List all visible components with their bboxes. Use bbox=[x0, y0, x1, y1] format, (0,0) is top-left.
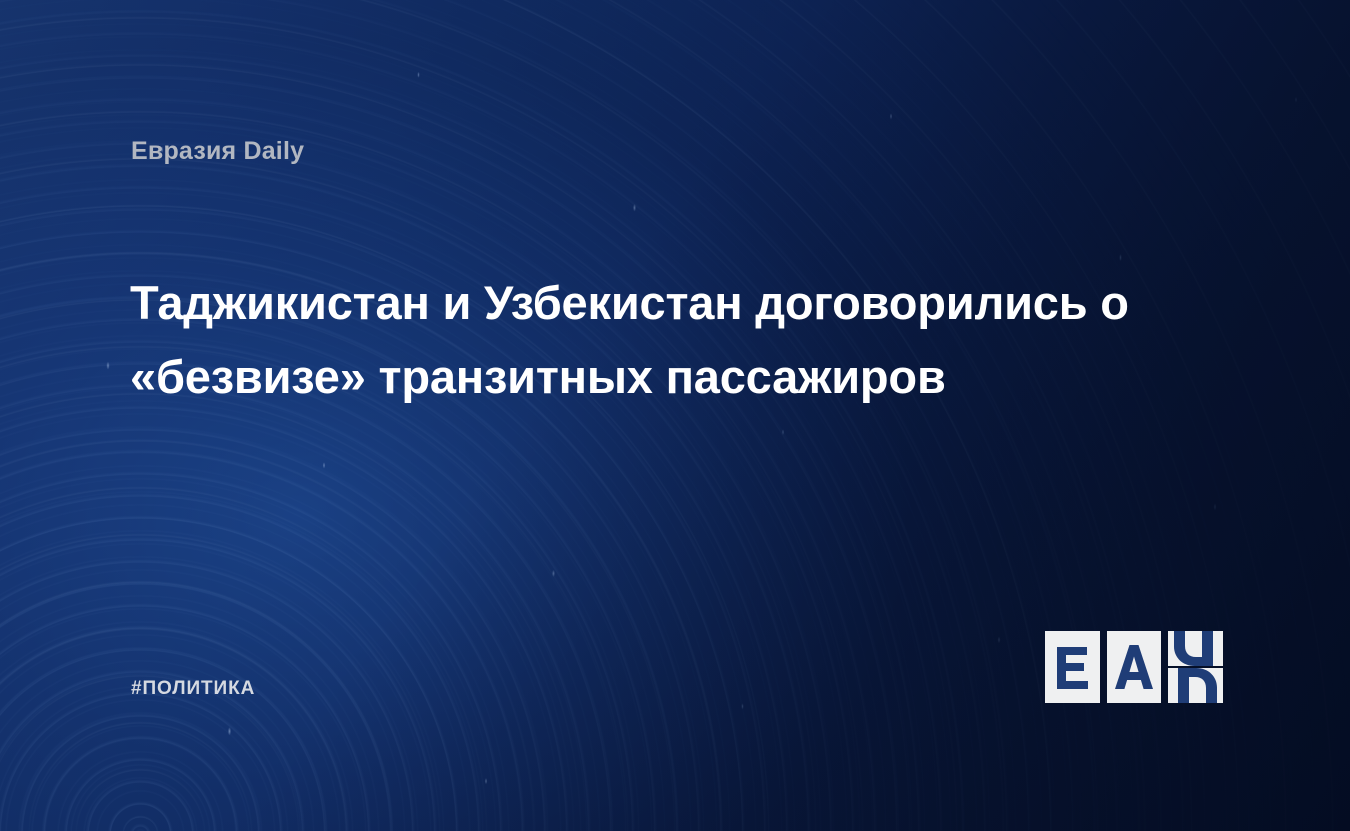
card-content: Евразия Daily Таджикистан и Узбекистан д… bbox=[0, 0, 1350, 831]
logo-letter-e-icon bbox=[1055, 645, 1089, 689]
logo-tile-d-upper bbox=[1168, 631, 1223, 666]
logo-tile-e bbox=[1045, 631, 1100, 703]
category-tag: #ПОЛИТИКА bbox=[131, 678, 255, 700]
logo-tile-d-column bbox=[1168, 631, 1223, 703]
news-share-card: Евразия Daily Таджикистан и Узбекистан д… bbox=[0, 0, 1350, 831]
page-title: Таджикистан и Узбекистан договорились о … bbox=[130, 266, 1210, 414]
site-name: Евразия Daily bbox=[131, 137, 304, 166]
logo-letter-d-lower-icon bbox=[1168, 668, 1223, 703]
logo-letter-a-icon bbox=[1115, 645, 1153, 689]
logo-tile-d-lower bbox=[1168, 668, 1223, 703]
logo-tile-a bbox=[1107, 631, 1162, 703]
logo-letter-d-upper-icon bbox=[1168, 631, 1223, 666]
eadaily-logo bbox=[1045, 631, 1223, 703]
